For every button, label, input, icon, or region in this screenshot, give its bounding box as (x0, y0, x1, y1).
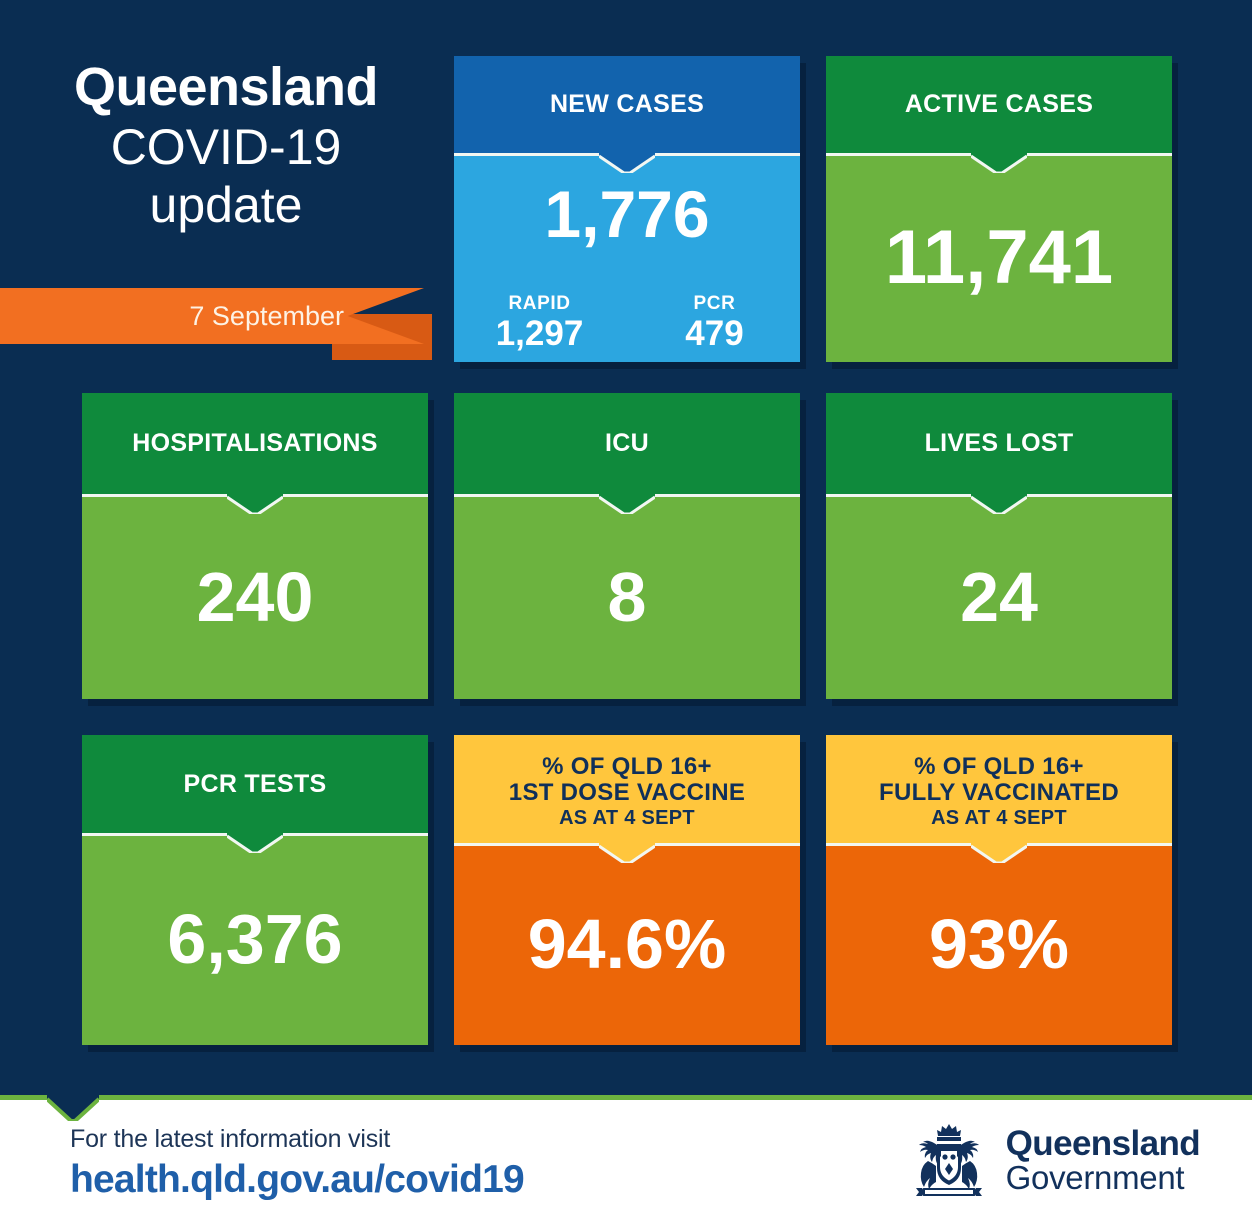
card-fully-vaccinated-label-line2: FULLY VACCINATED (879, 780, 1119, 806)
title-line-queensland: Queensland (0, 56, 452, 118)
card-active-cases-label: ACTIVE CASES (905, 91, 1093, 118)
card-icu-header: ICU (454, 393, 800, 494)
card-icu-value: 8 (608, 562, 647, 632)
card-new-cases-value: 1,776 (544, 181, 709, 247)
coat-of-arms-icon (906, 1121, 992, 1199)
card-first-dose-vaccine-header: % OF QLD 16+ 1ST DOSE VACCINE AS AT 4 SE… (454, 735, 800, 843)
card-pcr-tests-label: PCR TESTS (184, 771, 327, 798)
card-fully-vaccinated-value-area: 93% (826, 843, 1172, 1045)
card-active-cases-value-area: 11,741 (826, 153, 1172, 362)
card-pcr-tests-value: 6,376 (167, 904, 342, 974)
card-first-dose-value-area: 94.6% (454, 843, 800, 1045)
card-lives-lost-value-area: 24 (826, 494, 1172, 699)
split-rapid-label: RAPID (508, 293, 570, 315)
card-fully-vaccinated: % OF QLD 16+ FULLY VACCINATED AS AT 4 SE… (826, 735, 1172, 1045)
card-new-cases-splits: RAPID 1,297 PCR 479 (454, 282, 800, 362)
card-pcr-tests: PCR TESTS 6,376 (82, 735, 428, 1045)
footer: For the latest information visit health.… (0, 1095, 1252, 1218)
split-rapid: RAPID 1,297 (454, 282, 625, 362)
logo-wordmark: Queensland Government (1006, 1126, 1200, 1194)
footer-info-text: For the latest information visit (70, 1125, 524, 1154)
card-lives-lost: LIVES LOST 24 (826, 393, 1172, 699)
title-line-update: update (0, 176, 452, 234)
footer-green-rule (0, 1095, 1252, 1100)
card-hospitalisations-label: HOSPITALISATIONS (132, 430, 378, 457)
split-rapid-value: 1,297 (496, 316, 584, 351)
infographic-root: Queensland COVID-19 update 7 September N… (0, 0, 1252, 1218)
card-hospitalisations: HOSPITALISATIONS 240 (82, 393, 428, 699)
title-line-covid19: COVID-19 (0, 118, 452, 176)
page-title: Queensland COVID-19 update (0, 56, 452, 234)
card-fully-vaccinated-header: % OF QLD 16+ FULLY VACCINATED AS AT 4 SE… (826, 735, 1172, 843)
card-fully-vaccinated-label-line3: AS AT 4 SEPT (931, 808, 1067, 830)
card-icu: ICU 8 (454, 393, 800, 699)
split-pcr: PCR 479 (629, 282, 800, 362)
card-hospitalisations-value: 240 (197, 562, 314, 632)
card-first-dose-value: 94.6% (528, 909, 726, 979)
card-first-dose-vaccine: % OF QLD 16+ 1ST DOSE VACCINE AS AT 4 SE… (454, 735, 800, 1045)
ribbon-date-label: 7 September (0, 288, 360, 344)
card-first-dose-label-line1: % OF QLD 16+ (542, 754, 712, 780)
card-active-cases: ACTIVE CASES 11,741 (826, 56, 1172, 362)
footer-text-block: For the latest information visit health.… (70, 1125, 524, 1202)
queensland-government-logo: Queensland Government (906, 1121, 1200, 1199)
card-active-cases-value: 11,741 (885, 220, 1113, 296)
logo-queensland-text: Queensland (1006, 1126, 1200, 1161)
split-pcr-value: 479 (685, 316, 743, 351)
date-ribbon: 7 September (0, 288, 440, 370)
card-lives-lost-header: LIVES LOST (826, 393, 1172, 494)
card-hospitalisations-header: HOSPITALISATIONS (82, 393, 428, 494)
card-icu-value-area: 8 (454, 494, 800, 699)
card-pcr-tests-value-area: 6,376 (82, 833, 428, 1045)
card-icu-label: ICU (605, 430, 649, 457)
card-first-dose-label-line2: 1ST DOSE VACCINE (509, 780, 745, 806)
card-first-dose-label-line3: AS AT 4 SEPT (559, 808, 695, 830)
card-new-cases-value-area: 1,776 (454, 153, 800, 275)
split-pcr-label: PCR (694, 293, 736, 315)
card-lives-lost-label: LIVES LOST (925, 430, 1074, 457)
card-lives-lost-value: 24 (960, 562, 1038, 632)
chevron-down-icon (47, 1095, 99, 1121)
card-new-cases-label: NEW CASES (550, 91, 704, 118)
card-fully-vaccinated-value: 93% (929, 909, 1069, 979)
card-hospitalisations-value-area: 240 (82, 494, 428, 699)
card-new-cases: NEW CASES 1,776 RAPID 1,297 PCR 479 (454, 56, 800, 362)
card-active-cases-header: ACTIVE CASES (826, 56, 1172, 153)
card-fully-vaccinated-label-line1: % OF QLD 16+ (914, 754, 1084, 780)
logo-government-text: Government (1006, 1161, 1200, 1194)
footer-url-link[interactable]: health.qld.gov.au/covid19 (70, 1158, 524, 1202)
card-pcr-tests-header: PCR TESTS (82, 735, 428, 833)
card-new-cases-header: NEW CASES (454, 56, 800, 153)
